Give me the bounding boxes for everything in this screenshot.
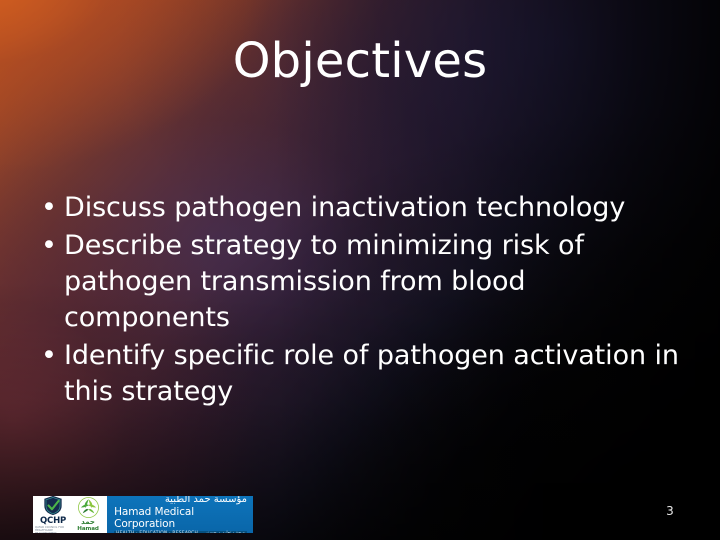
list-item: • Describe strategy to minimizing risk o… [38, 228, 686, 336]
qchp-accreditation-mark: QCHP QATAR COUNCIL FOR HEALTHCARE PRACTI… [35, 496, 71, 533]
hamad-arabic-short: حمد [81, 518, 95, 526]
leaf-circle-icon [78, 497, 99, 518]
presentation-slide: Objectives • Discuss pathogen inactivati… [0, 0, 720, 540]
bullet-point-icon: • [38, 338, 64, 374]
bullet-point-icon: • [38, 228, 64, 264]
slide-title: Objectives [0, 36, 720, 88]
list-item: • Discuss pathogen inactivation technolo… [38, 190, 686, 226]
hamad-medical-corporation-logo: QCHP QATAR COUNCIL FOR HEALTHCARE PRACTI… [33, 496, 253, 533]
slide-page-number: 3 [640, 504, 700, 518]
objective-text-3: Identify specific role of pathogen activ… [64, 338, 686, 410]
tagline-english: HEALTH · EDUCATION · RESEARCH [116, 531, 198, 534]
qchp-wordmark: QCHP [40, 517, 66, 526]
hamad-leaf-mark: حمد Hamad [71, 497, 105, 532]
corporation-name-arabic: مؤسسة حمد الطبية [114, 496, 247, 506]
logo-tagline-bar: HEALTH · EDUCATION · RESEARCH صحة · تعلي… [114, 531, 247, 534]
qchp-subtitle: QATAR COUNCIL FOR HEALTHCARE PRACTITIONE… [35, 526, 71, 534]
objectives-list: • Discuss pathogen inactivation technolo… [38, 190, 686, 412]
bullet-point-icon: • [38, 190, 64, 226]
logo-white-panel: QCHP QATAR COUNCIL FOR HEALTHCARE PRACTI… [33, 496, 107, 533]
logo-blue-panel: مؤسسة حمد الطبية Hamad Medical Corporati… [107, 496, 253, 533]
list-item: • Identify specific role of pathogen act… [38, 338, 686, 410]
shield-check-icon [43, 496, 63, 516]
objective-text-2: Describe strategy to minimizing risk of … [64, 228, 594, 336]
hamad-english-short: Hamad [77, 526, 99, 532]
tagline-arabic: صحة · تعليم · بحوث [207, 531, 246, 534]
objective-text-1: Discuss pathogen inactivation technology [64, 190, 686, 226]
corporation-name-english: Hamad Medical Corporation [114, 506, 247, 530]
